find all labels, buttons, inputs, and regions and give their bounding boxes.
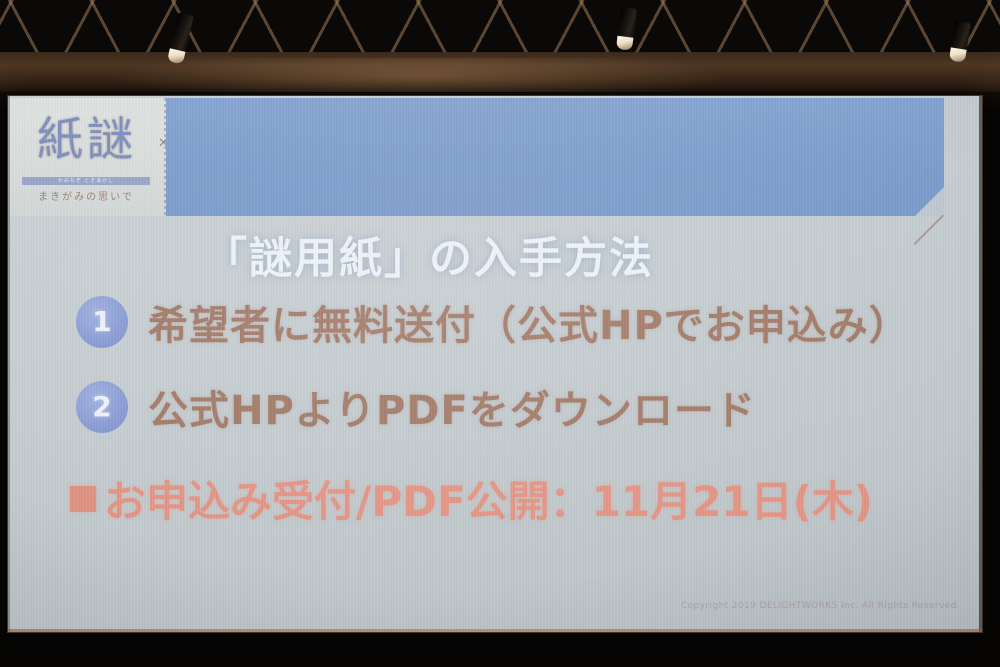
logo-rule-label: かみなぞ ときあかし xyxy=(22,177,150,185)
ceiling-lattice xyxy=(0,0,1000,58)
slide-header-band xyxy=(166,98,944,216)
logo-subtitle: まきがみの思いで xyxy=(18,188,154,203)
list-item: 2 公式HPよりPDFをダウンロード xyxy=(76,378,756,436)
notice-label: お申込み受付/PDF公開：11月21日(木) xyxy=(104,468,873,529)
logo-kanji-mark: 紙謎 xyxy=(16,108,158,170)
screen-bottom-edge xyxy=(8,629,982,632)
number-badge-1: 1 xyxy=(76,296,128,348)
photo-of-projected-slide: 紙謎 かみなぞ ときあかし まきがみの思いで ✕ 「謎用紙」の入手方法 1 希望… xyxy=(0,0,1000,667)
number-badge-2: 2 xyxy=(76,381,128,433)
list-item-label: 希望者に無料送付（公式HPでお申込み） xyxy=(148,293,910,351)
square-bullet-icon xyxy=(70,486,96,512)
list-item: 1 希望者に無料送付（公式HPでお申込み） xyxy=(76,293,910,351)
notice-line: お申込み受付/PDF公開：11月21日(木) xyxy=(70,468,873,529)
corner-fold-line-icon xyxy=(914,215,944,245)
corner-fold-icon xyxy=(915,187,944,216)
screen-left-edge xyxy=(8,96,10,632)
slide-title: 「謎用紙」の入手方法 xyxy=(204,224,654,286)
logo-divider xyxy=(164,98,166,216)
ceiling-beam-glow xyxy=(0,58,1000,92)
brand-logo: 紙謎 かみなぞ ときあかし まきがみの思いで ✕ xyxy=(8,98,166,216)
list-item-label: 公式HPよりPDFをダウンロード xyxy=(148,378,756,436)
screen-right-edge xyxy=(979,96,982,632)
copyright-notice: Copyright 2019 DELIGHTWORKS Inc. All Rig… xyxy=(681,601,960,611)
projection-screen: 紙謎 かみなぞ ときあかし まきがみの思いで ✕ 「謎用紙」の入手方法 1 希望… xyxy=(8,96,982,632)
